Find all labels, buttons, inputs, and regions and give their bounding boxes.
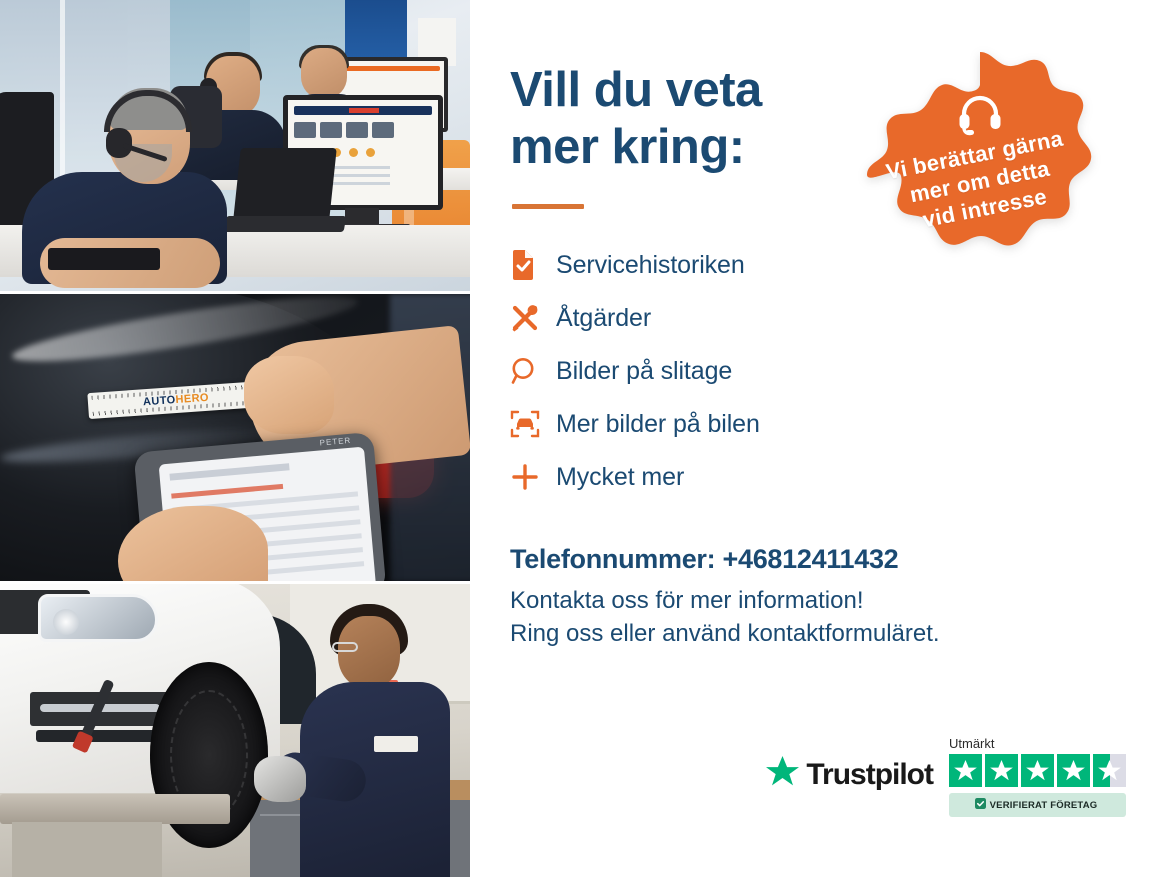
list-item-label: Mycket mer <box>556 463 684 492</box>
title-underline-rule <box>512 204 584 209</box>
contact-block: Telefonnummer: +46812411432 Kontakta oss… <box>510 544 1170 650</box>
photo-divider <box>0 291 470 294</box>
star-filled <box>985 754 1018 787</box>
list-item-label: Bilder på slitage <box>556 357 732 386</box>
plus-icon <box>510 462 556 492</box>
list-item-label: Åtgärder <box>556 304 651 333</box>
callout-badge: Vi berättar gärna mer om detta vid intre… <box>862 48 1098 296</box>
photo-column: AUTOHERO PETER <box>0 0 470 877</box>
phone-number[interactable]: +46812411432 <box>723 544 899 574</box>
star-filled <box>1057 754 1090 787</box>
verified-label: VERIFIERAT FÖRETAG <box>990 800 1098 811</box>
list-item: Mer bilder på bilen <box>510 398 1170 451</box>
content-column: Vill du veta mer kring: Servicehistorike… <box>470 0 1170 877</box>
trustpilot-logo[interactable]: Trustpilot <box>766 756 933 793</box>
list-item: Mycket mer <box>510 451 1170 504</box>
trustpilot-wordmark: Trustpilot <box>806 758 933 792</box>
car-scan-icon <box>510 409 556 439</box>
headset-icon <box>956 92 1004 136</box>
phone-label: Telefonnummer: <box>510 544 715 574</box>
trustpilot-widget[interactable]: Trustpilot Utmärkt VERIFIERAT FÖRETAG <box>766 736 1126 817</box>
list-item-label: Mer bilder på bilen <box>556 410 760 439</box>
contact-text: Kontakta oss för mer information! Ring o… <box>510 584 1170 650</box>
ruler-logo-auto: AUTO <box>143 394 176 408</box>
photo-tyre-check <box>0 584 470 877</box>
star-half <box>1093 754 1126 787</box>
verified-check-icon <box>975 796 986 814</box>
trustpilot-star-icon <box>766 756 799 793</box>
star-rating <box>949 754 1126 787</box>
list-item: Åtgärder <box>510 292 1170 345</box>
document-check-icon <box>510 250 556 280</box>
ruler-logo-hero: HERO <box>175 392 209 406</box>
list-item: Bilder på slitage <box>510 345 1170 398</box>
headline-line-2: mer kring: <box>510 120 745 174</box>
photo-damage-inspection: AUTOHERO PETER <box>0 294 470 582</box>
trustpilot-rating-block: Utmärkt VERIFIERAT FÖRETAG <box>949 736 1126 817</box>
tools-icon <box>510 303 556 333</box>
status-badge: VERIFIERAT FÖRETAG <box>949 793 1126 817</box>
phone-line: Telefonnummer: +46812411432 <box>510 544 1170 575</box>
marketing-page: AUTOHERO PETER <box>0 0 1170 877</box>
rating-label: Utmärkt <box>949 736 995 751</box>
list-item-label: Servicehistoriken <box>556 251 745 280</box>
photo-call-center <box>0 0 470 292</box>
magnifier-icon <box>510 356 556 386</box>
contact-line-2: Ring oss eller använd kontaktformuläret. <box>510 620 940 647</box>
badge-text: Vi berättar gärna mer om detta vid intre… <box>884 126 1076 239</box>
star-filled <box>1021 754 1054 787</box>
contact-line-1: Kontakta oss för mer information! <box>510 587 863 614</box>
star-filled <box>949 754 982 787</box>
photo-divider <box>0 581 470 584</box>
headline-line-1: Vill du veta <box>510 63 762 117</box>
